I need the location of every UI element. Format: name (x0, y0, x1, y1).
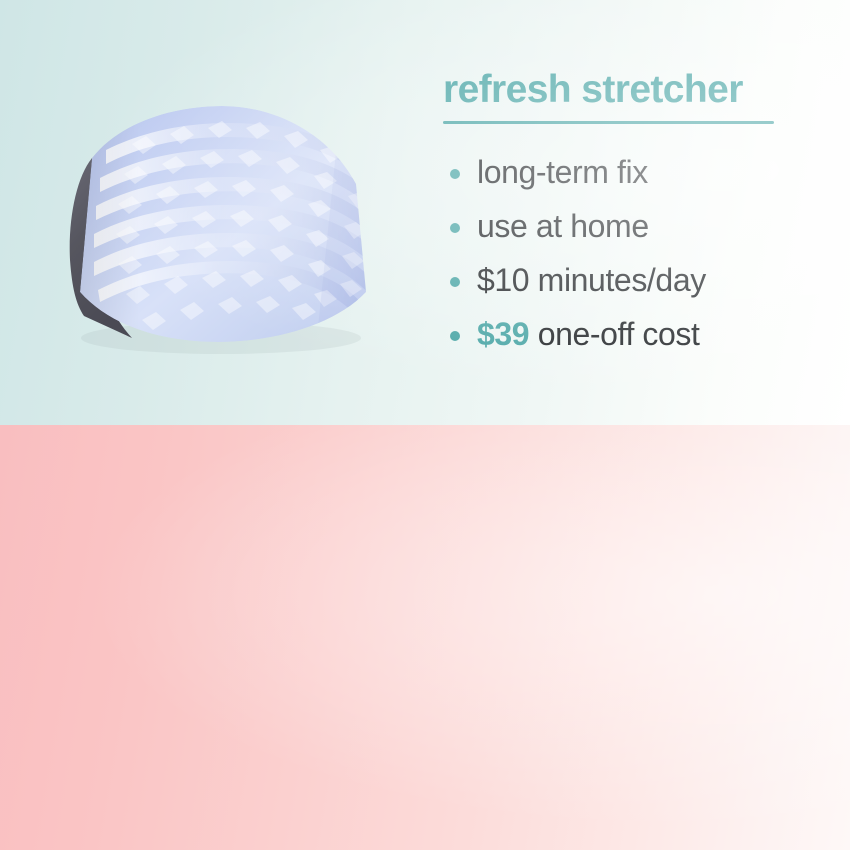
price-highlight: $39 (477, 316, 529, 352)
stretcher-product-image (36, 92, 381, 362)
list-item: use at home (441, 200, 841, 254)
list-item-label: $10 minutes/day (477, 262, 706, 299)
top-panel-copy: refresh stretcher long-term fix use at h… (441, 70, 841, 362)
list-item-label: use at home (477, 208, 649, 245)
top-panel-heading: refresh stretcher (443, 70, 743, 111)
top-panel-bullet-list: long-term fix use at home $10 minutes/da… (441, 146, 841, 362)
bottom-panel-chiropractors: chiropractors temporary fix appointments… (0, 425, 850, 850)
top-panel-refresh-stretcher: refresh stretcher long-term fix use at h… (0, 0, 850, 425)
bullet-dot-icon (450, 223, 460, 233)
bullet-dot-icon (450, 331, 460, 341)
list-item-label: one-off cost (529, 316, 699, 352)
comparison-infographic: refresh stretcher long-term fix use at h… (0, 0, 850, 850)
list-item: $39 one-off cost (441, 308, 841, 362)
bullet-dot-icon (450, 277, 460, 287)
list-item: long-term fix (441, 146, 841, 200)
bullet-dot-icon (450, 169, 460, 179)
list-item: $10 minutes/day (441, 254, 841, 308)
list-item-label: long-term fix (477, 154, 648, 191)
top-panel-heading-underline (443, 121, 774, 124)
